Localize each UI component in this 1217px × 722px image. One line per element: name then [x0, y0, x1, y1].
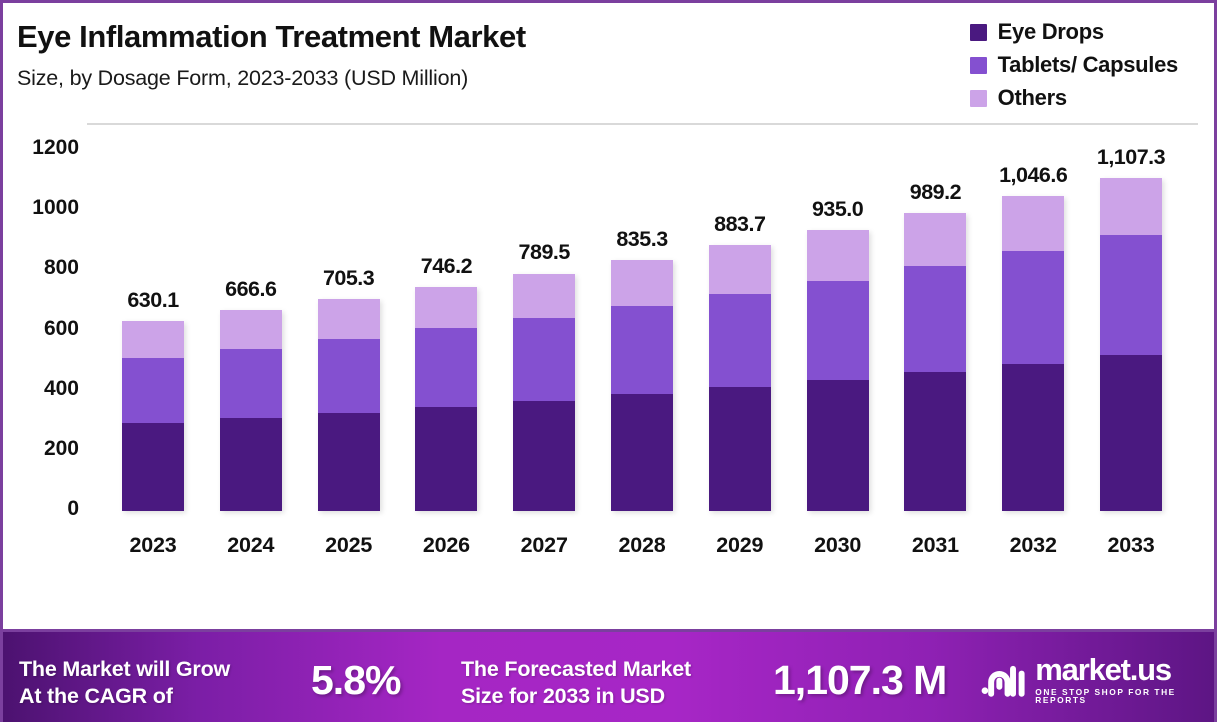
- y-axis-tick-label: 600: [3, 317, 79, 341]
- bar-segment[interactable]: [1002, 251, 1064, 364]
- bar-segment[interactable]: [220, 349, 282, 419]
- bar-stack[interactable]: [122, 321, 184, 511]
- bar-segment[interactable]: [318, 339, 380, 413]
- bar-segment[interactable]: [122, 423, 184, 511]
- chart-legend: Eye DropsTablets/ CapsulesOthers: [970, 19, 1178, 118]
- bar-segment[interactable]: [415, 287, 477, 329]
- bar-stack[interactable]: [513, 274, 575, 512]
- market-us-logo-icon: [981, 660, 1026, 698]
- bar-segment[interactable]: [513, 318, 575, 401]
- y-axis-tick-label: 0: [3, 497, 79, 521]
- x-axis-tick-label: 2033: [1056, 533, 1206, 558]
- cagr-label-line2: At the CAGR of: [19, 684, 173, 708]
- legend-swatch-icon: [970, 57, 987, 74]
- forecast-value: 1,107.3 M: [773, 657, 946, 704]
- bar-segment[interactable]: [611, 260, 673, 306]
- brand-logo[interactable]: market.us ONE STOP SHOP FOR THE REPORTS: [981, 654, 1217, 705]
- bar-segment[interactable]: [513, 274, 575, 318]
- y-axis-tick-label: 1000: [3, 196, 79, 220]
- bar-segment[interactable]: [513, 401, 575, 511]
- legend-item[interactable]: Eye Drops: [970, 19, 1178, 45]
- bar-segment[interactable]: [807, 380, 869, 511]
- bar-stack[interactable]: [1002, 196, 1064, 511]
- legend-item-label: Eye Drops: [998, 19, 1104, 45]
- bar-stack[interactable]: [220, 310, 282, 511]
- bar-stack[interactable]: [807, 230, 869, 511]
- forecast-label: The Forecasted Market Size for 2033 in U…: [461, 656, 691, 709]
- bar-segment[interactable]: [709, 387, 771, 511]
- page-subtitle: Size, by Dosage Form, 2023-2033 (USD Mil…: [17, 66, 777, 91]
- bar-segment[interactable]: [318, 413, 380, 511]
- y-axis-tick-label: 400: [3, 377, 79, 401]
- bar-segment[interactable]: [807, 281, 869, 381]
- brand-name: market.us: [1035, 654, 1217, 685]
- bar-stack[interactable]: [318, 299, 380, 511]
- bar-segment[interactable]: [611, 306, 673, 394]
- legend-item[interactable]: Others: [970, 85, 1178, 111]
- forecast-label-line2: Size for 2033 in USD: [461, 684, 665, 708]
- legend-swatch-icon: [970, 90, 987, 107]
- bar-segment[interactable]: [1002, 196, 1064, 251]
- bar-segment[interactable]: [904, 372, 966, 511]
- infographic-root: Eye Inflammation Treatment Market Size, …: [0, 0, 1217, 722]
- legend-item-label: Tablets/ Capsules: [998, 52, 1178, 78]
- bar-value-label: 1,107.3: [1056, 145, 1206, 170]
- bar-segment[interactable]: [220, 418, 282, 511]
- bar-stack[interactable]: [904, 213, 966, 511]
- bar-segment[interactable]: [1100, 235, 1162, 355]
- bar-stack[interactable]: [415, 287, 477, 511]
- bar-segment[interactable]: [709, 245, 771, 293]
- bar-stack[interactable]: [1100, 178, 1162, 511]
- bar-segment[interactable]: [904, 266, 966, 372]
- cagr-value: 5.8%: [311, 657, 400, 704]
- legend-item-label: Others: [998, 85, 1067, 111]
- forecast-label-line1: The Forecasted Market: [461, 657, 691, 681]
- y-axis-tick-label: 1200: [3, 136, 79, 160]
- brand-wordmark: market.us ONE STOP SHOP FOR THE REPORTS: [1035, 654, 1217, 705]
- y-axis-tick-label: 200: [3, 437, 79, 461]
- cagr-label-line1: The Market will Grow: [19, 657, 230, 681]
- bar-segment[interactable]: [122, 358, 184, 424]
- bar-segment[interactable]: [220, 310, 282, 348]
- bar-stack[interactable]: [709, 245, 771, 511]
- summary-banner: The Market will Grow At the CAGR of 5.8%…: [3, 629, 1217, 722]
- legend-swatch-icon: [970, 24, 987, 41]
- bar-segment[interactable]: [1100, 178, 1162, 235]
- bar-segment[interactable]: [415, 407, 477, 511]
- chart-plot-area: 020040060080010001200630.12023666.620247…: [3, 123, 1217, 583]
- bar-segment[interactable]: [611, 394, 673, 511]
- cagr-label: The Market will Grow At the CAGR of: [19, 656, 230, 709]
- page-title: Eye Inflammation Treatment Market: [17, 19, 777, 55]
- y-axis-tick-label: 800: [3, 256, 79, 280]
- bar-segment[interactable]: [1100, 355, 1162, 511]
- bar-segment[interactable]: [807, 230, 869, 281]
- bar-segment[interactable]: [904, 213, 966, 266]
- bar-segment[interactable]: [709, 294, 771, 388]
- bar-segment[interactable]: [122, 321, 184, 357]
- legend-item[interactable]: Tablets/ Capsules: [970, 52, 1178, 78]
- bar-segment[interactable]: [1002, 364, 1064, 511]
- x-axis-line: [87, 123, 1198, 125]
- bar-stack[interactable]: [611, 260, 673, 511]
- bar-segment[interactable]: [318, 299, 380, 339]
- bar-segment[interactable]: [415, 328, 477, 407]
- brand-tagline: ONE STOP SHOP FOR THE REPORTS: [1035, 688, 1217, 705]
- header-block: Eye Inflammation Treatment Market Size, …: [17, 19, 777, 91]
